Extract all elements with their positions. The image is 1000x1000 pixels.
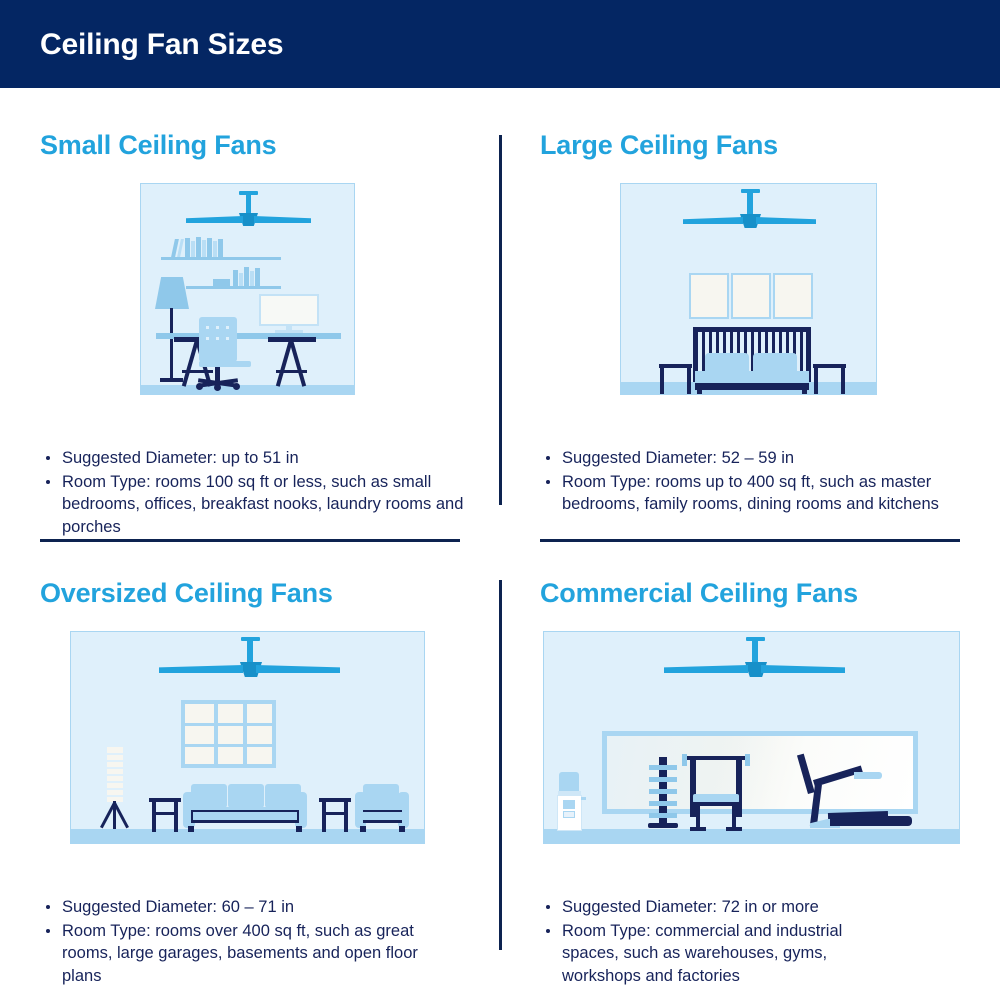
water-cooler (556, 772, 586, 831)
ceiling-fan-icon (159, 637, 339, 679)
infographic-page: Ceiling Fan Sizes Small Ceiling Fans (0, 0, 1000, 1000)
quadrant-bullets-large: Suggested Diameter: 52 – 59 in Room Type… (540, 447, 940, 516)
quadrant-small: Small Ceiling Fans (40, 130, 480, 539)
sofa (183, 784, 307, 832)
quadrant-title-small: Small Ceiling Fans (40, 130, 480, 161)
list-item: Room Type: rooms up to 400 sq ft, such a… (540, 471, 940, 516)
monitor (259, 294, 319, 334)
fan-blade-left (186, 216, 243, 223)
bed (693, 327, 811, 394)
bullet-dot (546, 929, 550, 933)
quadrant-commercial: Commercial Ceiling Fans (540, 578, 980, 988)
bullet-text: Suggested Diameter: up to 51 in (62, 449, 299, 467)
ceiling-fan-icon (683, 189, 816, 229)
list-item: Suggested Diameter: up to 51 in (40, 447, 475, 470)
quadrant-oversized: Oversized Ceiling Fans (40, 578, 480, 988)
list-item: Room Type: rooms 100 sq ft or less, such… (40, 471, 475, 539)
ceiling-fan-icon (186, 191, 311, 228)
fan-downrod (247, 640, 253, 665)
bullet-text: Room Type: rooms 100 sq ft or less, such… (62, 473, 463, 536)
page-header: Ceiling Fan Sizes (0, 0, 1000, 88)
bullet-dot (546, 905, 550, 909)
bullet-text: Suggested Diameter: 52 – 59 in (562, 449, 794, 467)
divider-vertical-top (499, 135, 502, 505)
dumbbell-rack (648, 757, 678, 831)
fan-downrod (246, 194, 251, 216)
fan-downrod (752, 640, 758, 665)
wall-art-right (773, 273, 813, 319)
fan-blade-left (159, 665, 243, 673)
gym-warehouse-scene (543, 631, 960, 844)
tripod-floor-lamp (99, 747, 129, 832)
fan-blade-left (683, 217, 743, 224)
fan-blade-right (761, 665, 845, 673)
page-title: Ceiling Fan Sizes (40, 28, 283, 62)
side-table-right (319, 798, 351, 832)
office-chair (196, 317, 258, 389)
wall-art-center (731, 273, 771, 319)
divider-horizontal-right (540, 539, 960, 542)
bullet-text: Room Type: rooms up to 400 sq ft, such a… (562, 473, 939, 514)
shelf-upper (161, 257, 281, 260)
quadrant-title-commercial: Commercial Ceiling Fans (540, 578, 980, 609)
bullet-text: Room Type: commercial and industrial spa… (562, 922, 842, 985)
side-table-left (149, 798, 181, 832)
bullet-dot (546, 480, 550, 484)
master-bedroom-scene (620, 183, 877, 395)
fan-downrod (747, 192, 753, 217)
bullet-text: Suggested Diameter: 72 in or more (562, 898, 819, 916)
bullet-text: Suggested Diameter: 60 – 71 in (62, 898, 294, 916)
shelf-lower (186, 286, 281, 289)
bullet-dot (46, 456, 50, 460)
list-item: Room Type: commercial and industrial spa… (540, 920, 900, 988)
quadrant-title-large: Large Ceiling Fans (540, 130, 980, 161)
armchair (355, 784, 410, 832)
bullet-dot (46, 480, 50, 484)
quadrant-title-oversized: Oversized Ceiling Fans (40, 578, 480, 609)
list-item: Room Type: rooms over 400 sq ft, such as… (40, 920, 440, 988)
ceiling-fan-icon (664, 637, 844, 679)
nightstand-left (659, 364, 692, 394)
list-item: Suggested Diameter: 60 – 71 in (40, 896, 440, 919)
bullet-dot (46, 929, 50, 933)
divider-horizontal-left (40, 539, 460, 542)
window (181, 700, 276, 768)
nightstand-right (813, 364, 846, 394)
wall-art-left (689, 273, 729, 319)
fan-blade-right (756, 217, 816, 224)
divider-vertical-bottom (499, 580, 502, 950)
great-room-scene (70, 631, 425, 844)
quadrant-bullets-oversized: Suggested Diameter: 60 – 71 in Room Type… (40, 896, 440, 987)
fan-blade-right (254, 216, 311, 223)
home-office-scene (140, 183, 355, 395)
books-upper (173, 237, 227, 257)
list-item: Suggested Diameter: 52 – 59 in (540, 447, 940, 470)
list-item: Suggested Diameter: 72 in or more (540, 896, 900, 919)
bullet-text: Room Type: rooms over 400 sq ft, such as… (62, 922, 418, 985)
fan-blade-right (256, 665, 340, 673)
treadmill (806, 754, 916, 832)
fan-blade-left (664, 665, 748, 673)
bullet-dot (546, 456, 550, 460)
bullet-dot (46, 905, 50, 909)
quadrant-bullets-small: Suggested Diameter: up to 51 in Room Typ… (40, 447, 475, 538)
quadrant-large: Large Ceiling Fans (540, 130, 980, 517)
books-lower (213, 267, 261, 286)
weight-bench (682, 754, 750, 832)
quadrant-bullets-commercial: Suggested Diameter: 72 in or more Room T… (540, 896, 900, 987)
